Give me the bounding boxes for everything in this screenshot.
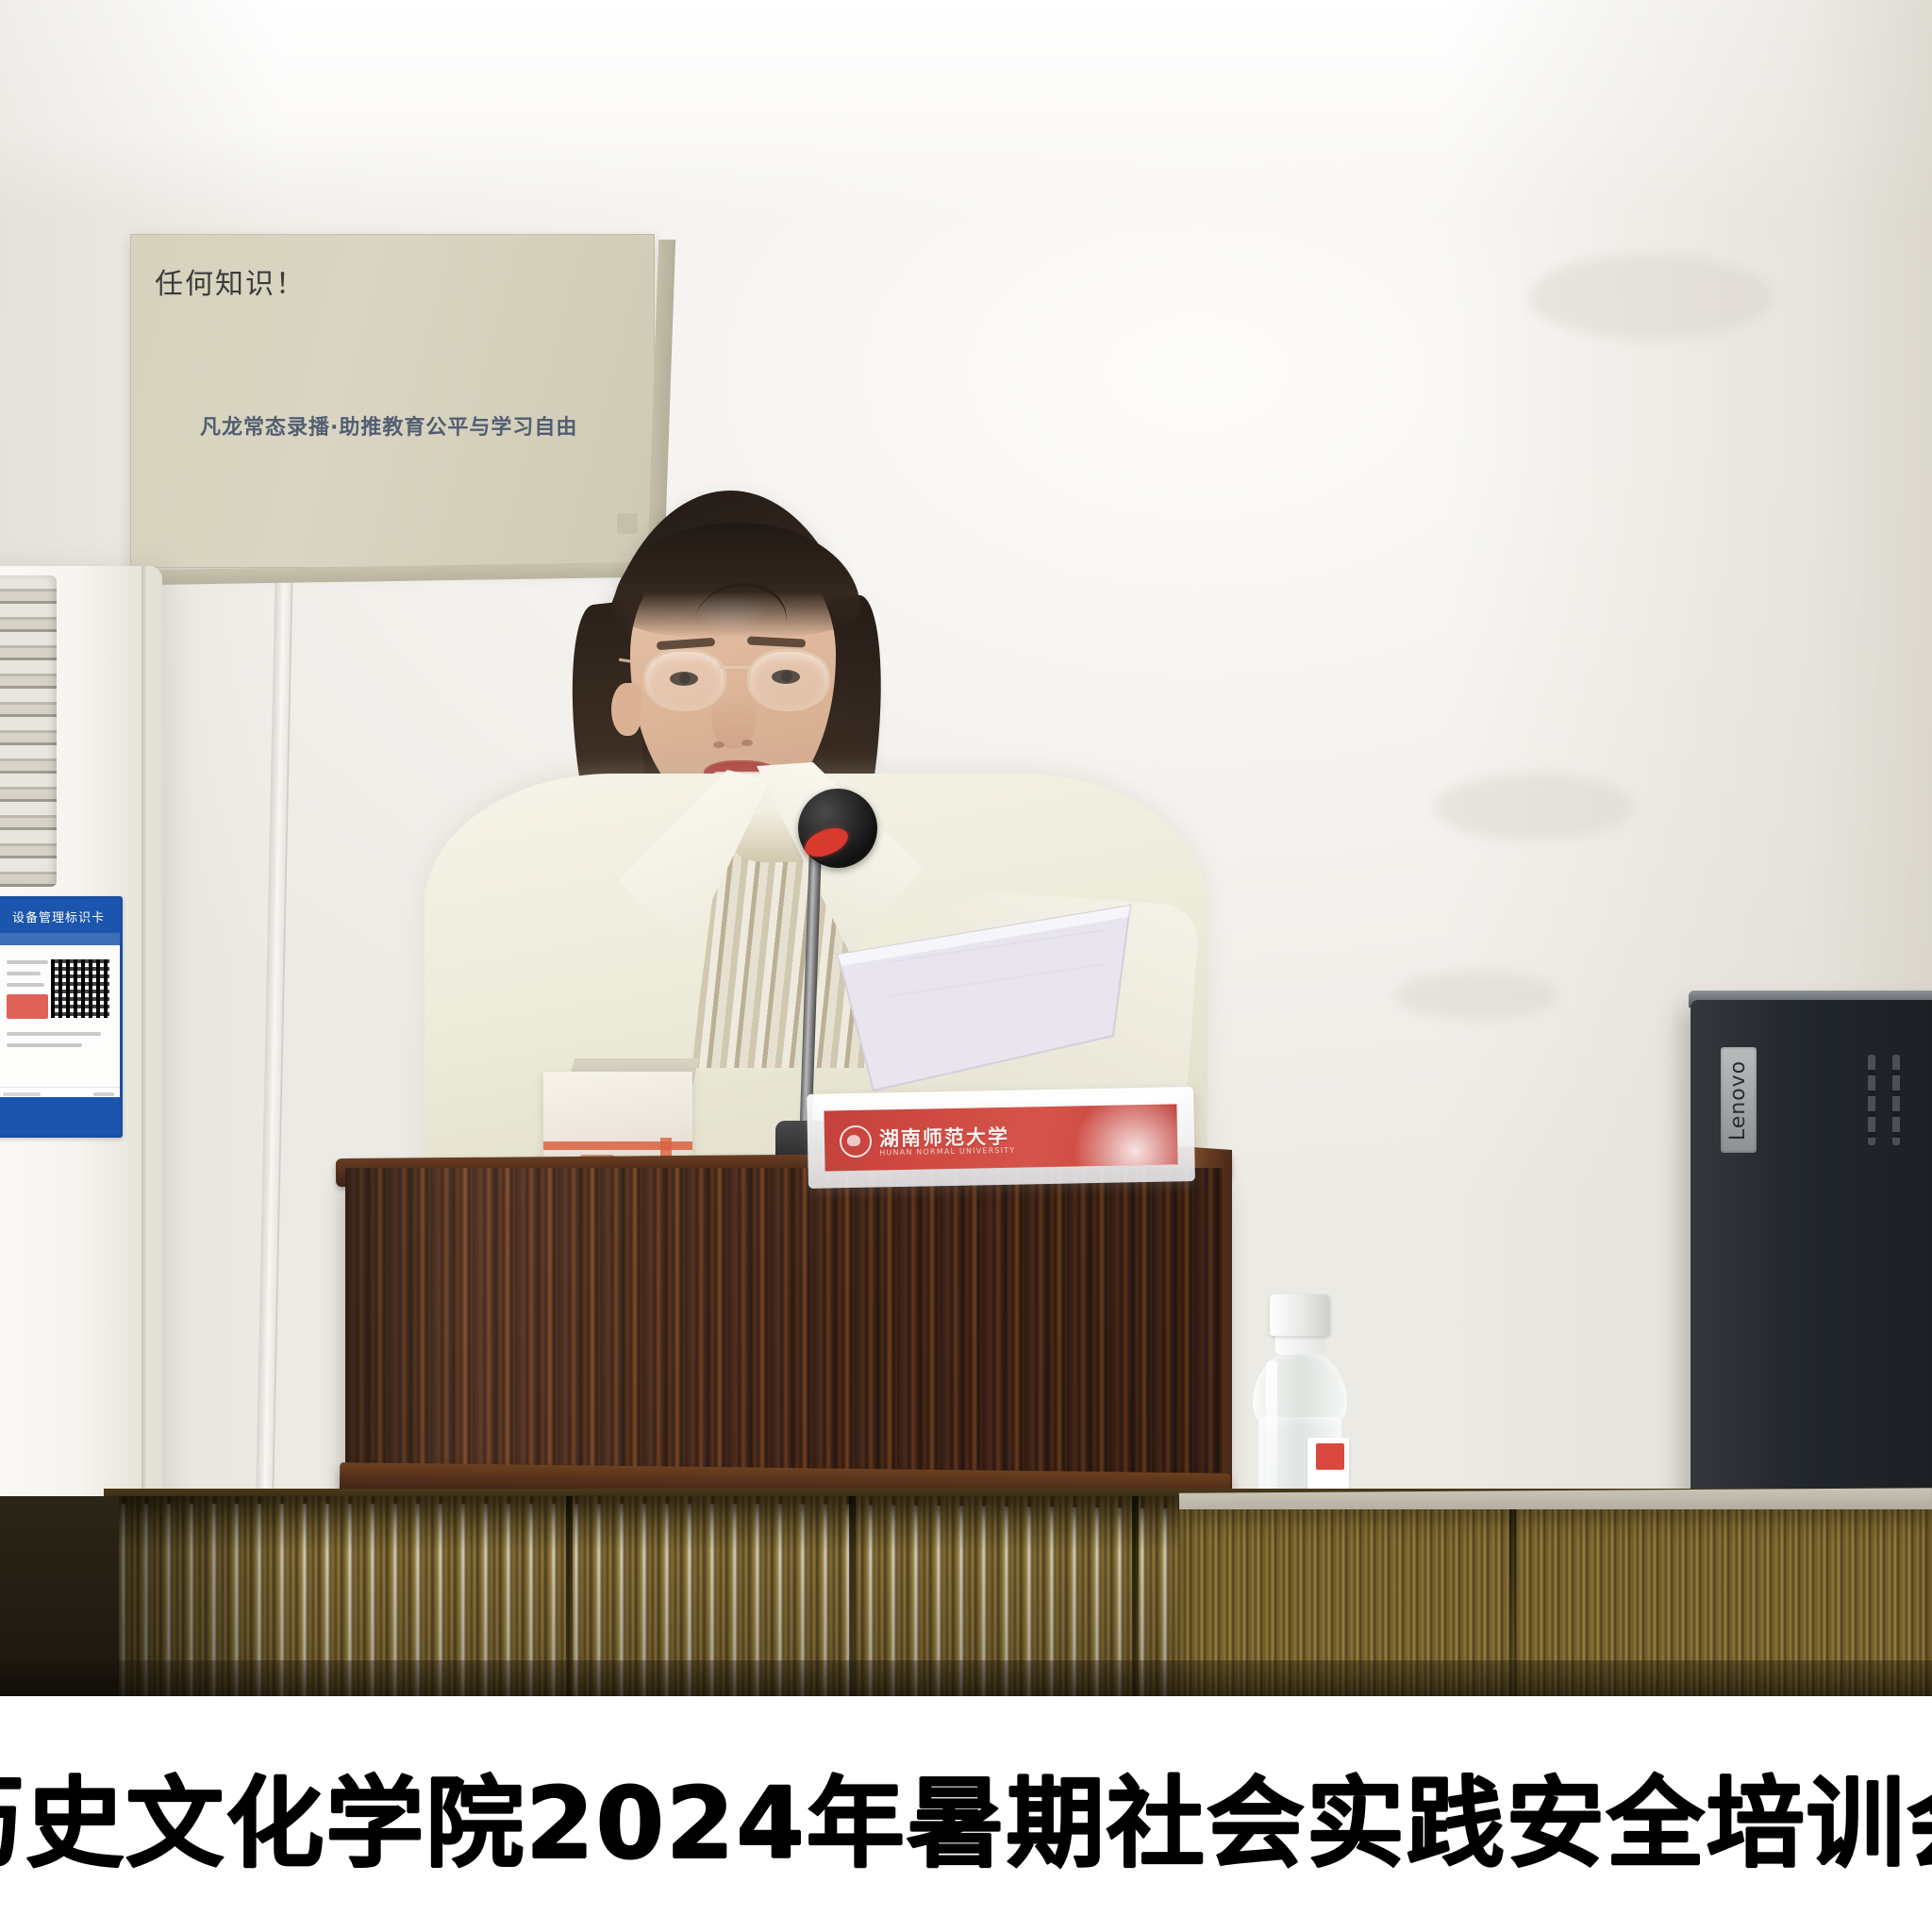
equipment-label-footer [0,1097,120,1135]
label-text-line [7,983,44,987]
bottled-water [1249,1294,1351,1517]
photo-frame: 任何知识！ 凡龙常态录播·助推教育公平与学习自由 设备管理标识卡 [0,0,1932,1932]
nameplate-glare [1042,1104,1178,1171]
bottle-neck [1275,1334,1324,1355]
equipment-label-header-underbar [0,933,120,945]
label-text-line [7,960,48,964]
bottle-highlight [1266,1360,1277,1502]
caption-text: 历史文化学院2024年暑期社会实践安全培训会 [0,1743,1932,1886]
wooden-lectern [345,1168,1223,1496]
equipment-label-body [0,945,120,1087]
lenovo-logo-text: Lenovo [1727,1059,1751,1140]
nostril-left [713,741,724,748]
wall-blemish [1396,972,1557,1019]
bottle-label-accent [1316,1443,1344,1470]
podium-nameplate: 湖南师范大学 HUNAN NORMAL UNIVERSITY [807,1087,1195,1189]
eyeglass-bridge [719,666,751,669]
label-text-line [7,972,41,975]
bottle-cap [1270,1294,1330,1336]
nameplate-red-insert: 湖南师范大学 HUNAN NORMAL UNIVERSITY [824,1104,1177,1171]
equipment-label-card: 设备管理标识卡 [0,896,123,1138]
air-conditioner-seam [142,566,147,1623]
university-seal-icon [840,1125,873,1158]
air-conditioner-vent [0,575,57,887]
label-text-line [7,1043,82,1047]
nameplate-organization-en: HUNAN NORMAL UNIVERSITY [879,1146,1015,1158]
caption-bar: 历史文化学院2024年暑期社会实践安全培训会 [0,1696,1932,1932]
equipment-label-header: 设备管理标识卡 [0,899,120,933]
panel-line1-text: 任何知识！ [155,260,306,302]
label-text-line [7,1032,101,1036]
ear [611,683,641,736]
eyeglass-lens-right [747,649,830,711]
qr-code-icon [48,957,112,1021]
wall-blemish [1434,774,1632,840]
lenovo-logo: Lenovo [1721,1047,1757,1153]
floor-shadow [0,1660,1932,1696]
lectern-shadow [345,1168,468,1496]
monitor-vent [1892,1055,1900,1145]
panel-line2-text: 凡龙常态录播·助推教育公平与学习自由 [200,410,577,441]
wall-blemish [1528,255,1774,340]
red-stamp-icon [7,994,48,1019]
nostril-right [741,740,753,746]
photograph: 任何知识！ 凡龙常态录播·助推教育公平与学习自由 设备管理标识卡 [0,0,1932,1696]
monitor-vent [1868,1055,1875,1145]
